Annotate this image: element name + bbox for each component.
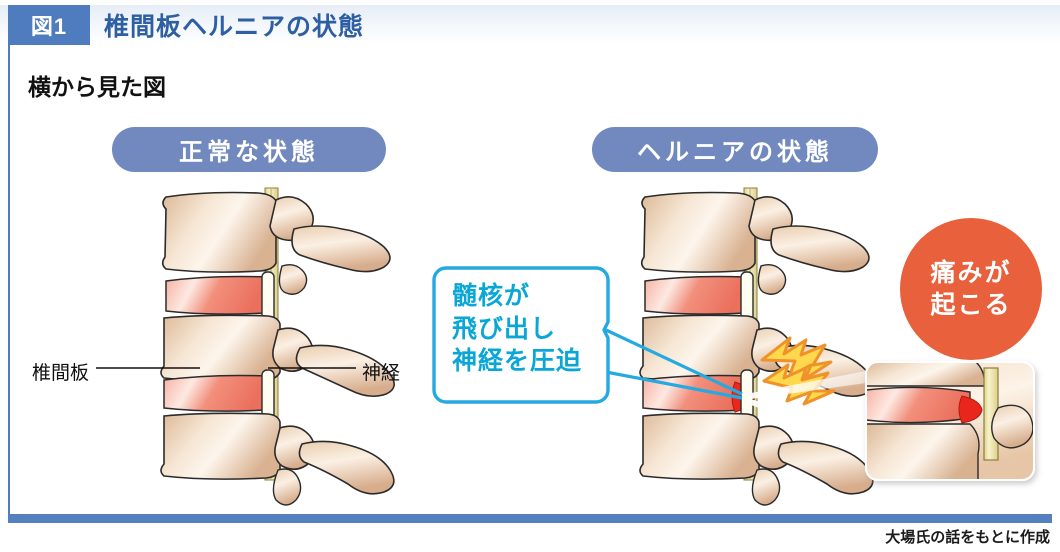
figure-number-badge: 図1 (8, 5, 90, 45)
callout-box: 髄核が 飛び出し 神経を圧迫 (436, 268, 608, 398)
pain-badge: 痛みが 起こる (900, 218, 1042, 360)
pain-badge-line-2: 起こる (930, 289, 1011, 321)
callout-line-2: 飛び出し (452, 313, 582, 346)
callout-line-1: 髄核が (452, 280, 582, 313)
figure-title: 椎間板ヘルニアの状態 (104, 5, 364, 45)
panel-label-hernia-text: ヘルニアの状態 (637, 132, 833, 167)
figure-header: 図1 椎間板ヘルニアの状態 (0, 5, 1060, 45)
figure-number-label: 図1 (31, 9, 67, 41)
callout-line-3: 神経を圧迫 (452, 345, 582, 378)
panel-label-normal-text: 正常な状態 (179, 132, 319, 167)
callout-text: 髄核が 飛び出し 神経を圧迫 (452, 280, 582, 378)
pain-badge-line-1: 痛みが (930, 257, 1011, 289)
source-credit: 大場氏の話をもとに作成 (885, 526, 1050, 547)
panel-label-hernia: ヘルニアの状態 (592, 127, 878, 172)
label-intervertebral-disc: 椎間板 (32, 358, 89, 385)
figure-root: 図1 椎間板ヘルニアの状態 横から見た図 正常な状態 ヘルニアの状態 (0, 0, 1060, 552)
footer-bar (8, 514, 1052, 523)
panel-label-normal: 正常な状態 (112, 127, 386, 172)
label-nerve: 神経 (362, 358, 400, 385)
view-subtitle: 横から見た図 (28, 68, 166, 102)
